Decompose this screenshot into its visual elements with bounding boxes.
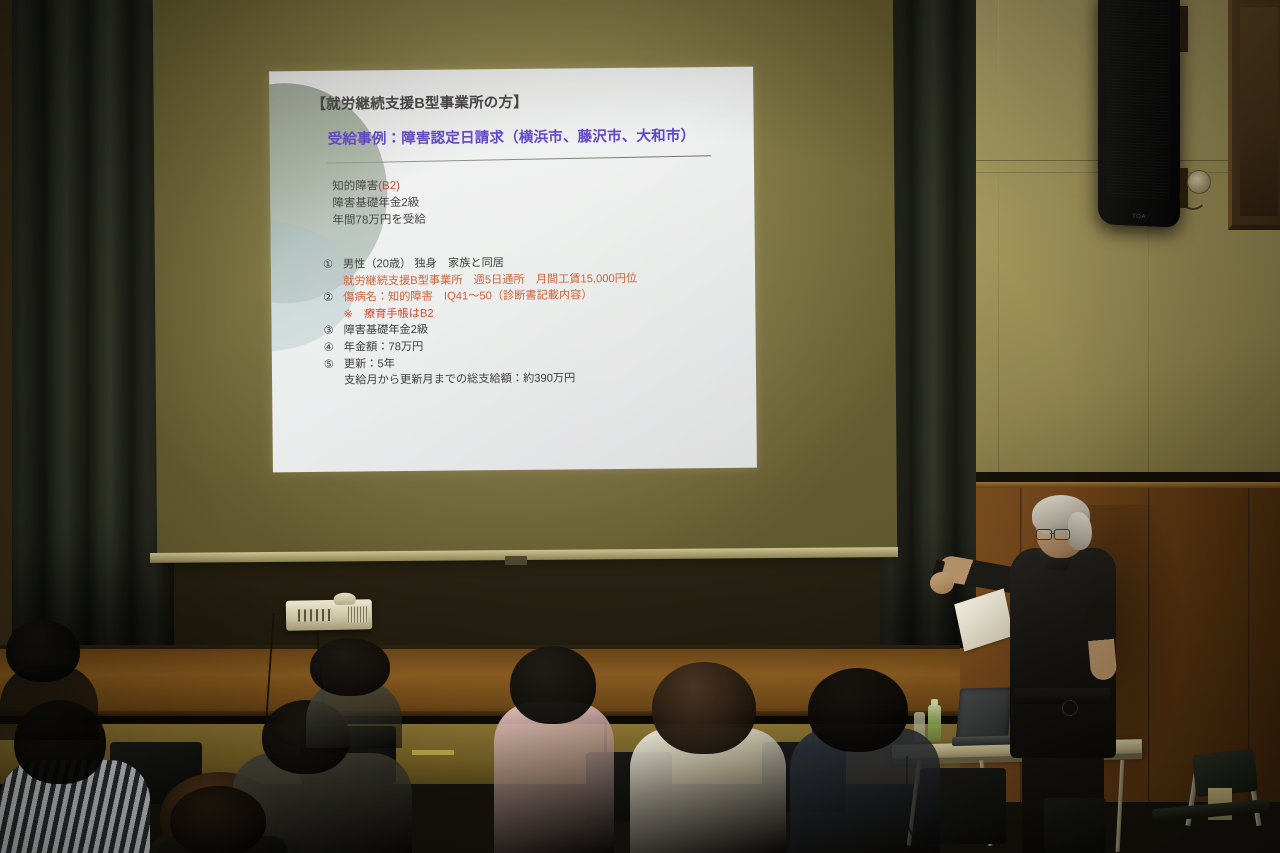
summary-line-3: 年間78万円を受給 bbox=[332, 214, 425, 227]
slide-title: 【就労継続支援B型事業所の方】 bbox=[311, 91, 528, 114]
summary-line-1: 知的障害(B2) bbox=[332, 180, 400, 193]
audience-pink-shirt bbox=[494, 646, 614, 853]
slide-subtitle: 受給事例：障害認定日請求（横浜市、藤沢市、大和市） bbox=[328, 124, 696, 149]
audience-chair-back bbox=[1044, 798, 1106, 853]
slide-numbered-list: ①男性（20歳） 独身 家族と同居 就労継続支援B型事業所 週5日通所 月間工賃… bbox=[323, 254, 638, 390]
presentation-slide: 【就労継続支援B型事業所の方】 受給事例：障害認定日請求（横浜市、藤沢市、大和市… bbox=[269, 67, 757, 473]
folding-chair bbox=[1166, 752, 1272, 853]
pa-speaker-icon: TOA bbox=[1098, 0, 1180, 228]
list-item: ②傷病名：知的障害 IQ41～50（診断書記載内容） bbox=[323, 287, 637, 307]
stage-curtain-left bbox=[12, 0, 174, 648]
presenter-glasses-icon bbox=[1036, 529, 1070, 538]
screen-weight-tab bbox=[505, 556, 527, 565]
projector-icon bbox=[286, 599, 373, 630]
audience-blue-cap bbox=[306, 638, 402, 748]
laptop-screen bbox=[956, 688, 1013, 741]
list-item-sub: 支給月から更新月までの総支給額：約390万円 bbox=[324, 370, 638, 390]
audience-navy-shirt bbox=[790, 668, 940, 853]
projector-lens-icon bbox=[334, 593, 356, 605]
audience-pink-shirt-head bbox=[510, 646, 596, 724]
presenter-left-hand bbox=[930, 572, 954, 594]
audience-far-right bbox=[158, 786, 288, 853]
audience-far-right-head bbox=[170, 786, 266, 853]
audience-white-shirt bbox=[630, 662, 786, 853]
audience-blue-cap-head bbox=[310, 638, 390, 696]
wall-framed-panel bbox=[1228, 0, 1280, 230]
slide-summary-block: 知的障害(B2) 障害基礎年金2級 年間78万円を受給 bbox=[332, 178, 426, 230]
slide-divider bbox=[327, 155, 711, 163]
wall-outlet-cord bbox=[1179, 182, 1207, 210]
audience-white-shirt-head bbox=[652, 662, 756, 754]
summary-line-2: 障害基礎年金2級 bbox=[332, 197, 419, 210]
lecture-hall-scene: TOA 【就労継続支援B型事業所の方】 受給事例：障害認定日請求（横浜市、藤沢市… bbox=[0, 0, 1280, 853]
audience-navy-shirt-head bbox=[808, 668, 908, 752]
audience-black-cap bbox=[0, 620, 98, 740]
speaker-brand-label: TOA bbox=[1098, 212, 1180, 222]
audience-pink-shirt-body bbox=[494, 702, 614, 853]
audience-black-cap-head bbox=[6, 620, 80, 682]
